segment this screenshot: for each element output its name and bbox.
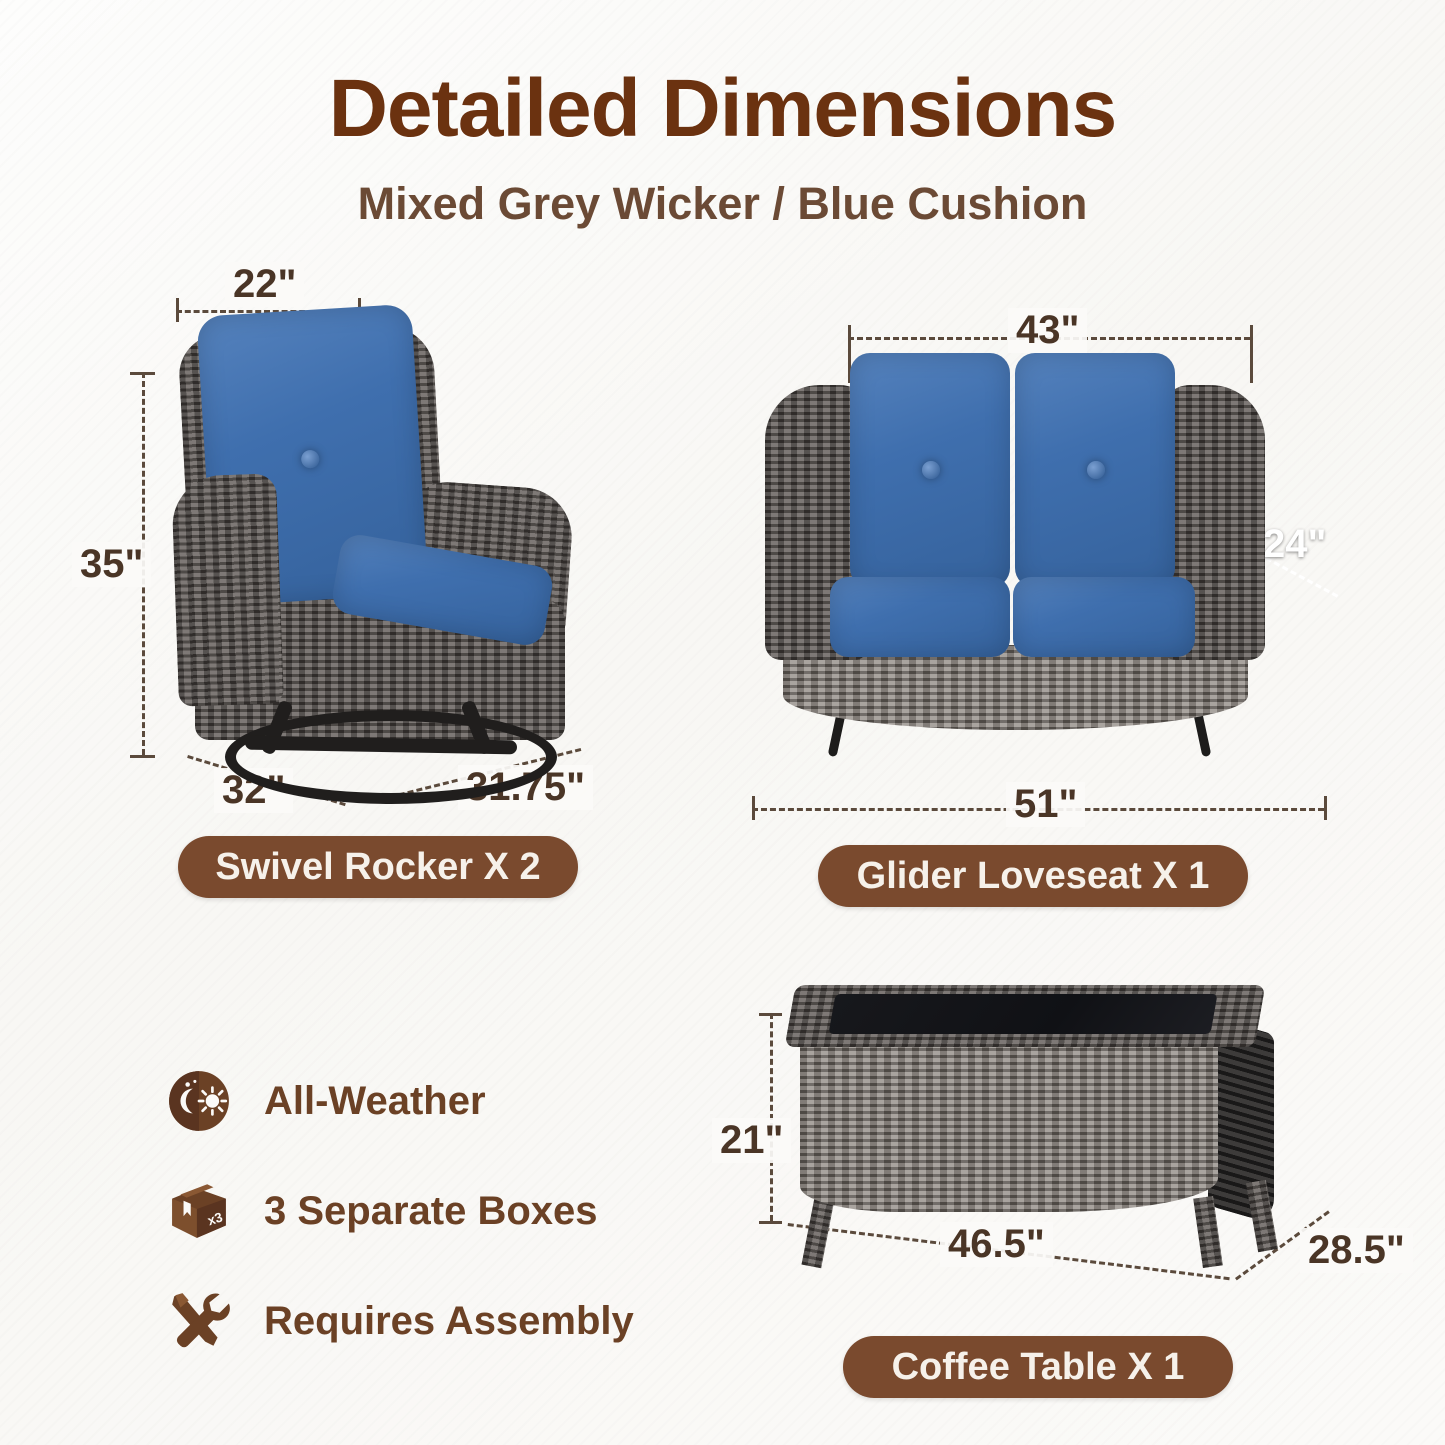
- feature-all-weather: All-Weather: [166, 1068, 486, 1134]
- dim-cap: [752, 796, 755, 820]
- swivel-rocker-illustration: [150, 300, 570, 770]
- dim-label-loveseat-overall: 51": [1006, 782, 1085, 827]
- cushion-tuft: [922, 461, 940, 479]
- badge-glider-loveseat: Glider Loveseat X 1: [818, 845, 1248, 907]
- dim-label-loveseat-width: 43": [1008, 308, 1087, 353]
- loveseat-back-cushion-right: [1015, 353, 1175, 588]
- feature-label: All-Weather: [264, 1079, 486, 1124]
- dim-cap: [1250, 325, 1253, 383]
- badge-coffee-table: Coffee Table X 1: [843, 1336, 1233, 1398]
- dim-cap: [759, 1013, 782, 1016]
- dim-label-table-width: 46.5": [940, 1222, 1053, 1267]
- infographic-canvas: Detailed Dimensions Mixed Grey Wicker / …: [0, 0, 1445, 1445]
- dim-line-table-height: [770, 1013, 773, 1221]
- loveseat-seat-cushion-left: [830, 577, 1010, 657]
- cushion-tuft: [301, 450, 320, 469]
- dim-cap: [176, 298, 179, 322]
- page-title: Detailed Dimensions: [0, 62, 1445, 156]
- all-weather-icon: [166, 1068, 232, 1134]
- table-leg: [802, 1196, 835, 1269]
- dim-cap: [759, 1221, 782, 1224]
- table-front-panel: [800, 1037, 1218, 1212]
- page-subtitle: Mixed Grey Wicker / Blue Cushion: [0, 178, 1445, 230]
- tools-icon: [166, 1288, 232, 1354]
- feature-label: 3 Separate Boxes: [264, 1189, 598, 1234]
- dim-label-rocker-width: 22": [225, 262, 304, 307]
- cushion-tuft: [1087, 461, 1105, 479]
- dim-label-loveseat-depth: 24": [1255, 522, 1334, 567]
- dim-label-rocker-height: 35": [72, 542, 151, 587]
- dim-cap: [1324, 796, 1327, 820]
- boxes-x3-icon: x3: [166, 1178, 232, 1244]
- feature-separate-boxes: x3 3 Separate Boxes: [166, 1178, 598, 1244]
- loveseat-back-cushion-left: [850, 353, 1010, 588]
- dim-label-table-depth: 28.5": [1300, 1228, 1413, 1273]
- badge-swivel-rocker: Swivel Rocker X 2: [178, 836, 578, 898]
- dim-label-table-height: 21": [712, 1118, 791, 1163]
- feature-requires-assembly: Requires Assembly: [166, 1288, 634, 1354]
- glider-loveseat-illustration: [755, 345, 1345, 775]
- feature-label: Requires Assembly: [264, 1299, 634, 1344]
- dim-cap: [130, 372, 155, 375]
- rocker-arm-left: [171, 473, 284, 707]
- table-glass-top: [828, 994, 1217, 1034]
- dim-cap: [130, 755, 155, 758]
- loveseat-seat-cushion-right: [1013, 577, 1195, 657]
